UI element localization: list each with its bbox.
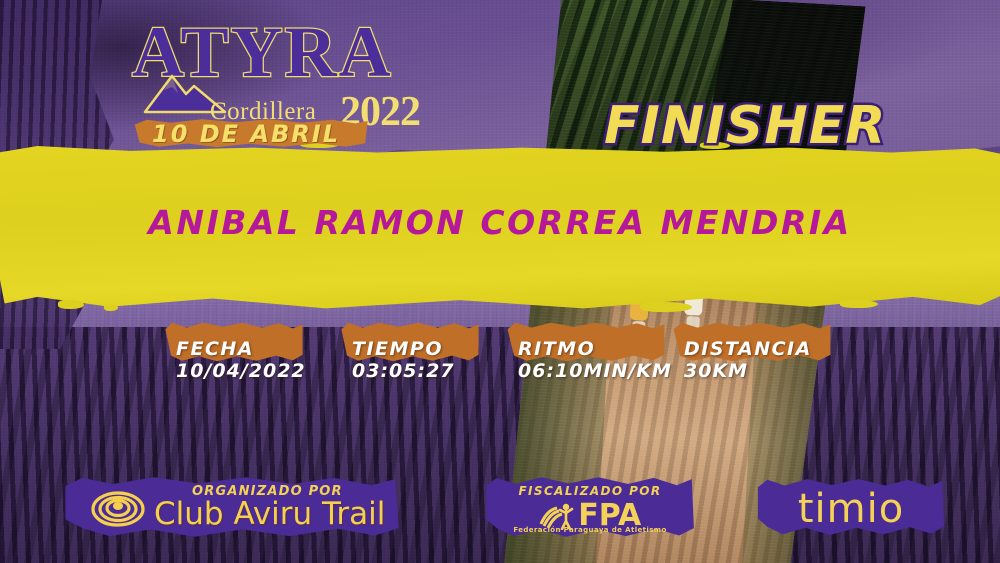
event-date-banner: 10 DE ABRIL	[126, 120, 366, 148]
brush-splatter	[840, 300, 878, 308]
finisher-certificate: ATYRA Cordillera 2022 10 DE ABRIL FINISH…	[0, 0, 1000, 563]
sponsor-timing: timio	[756, 478, 946, 536]
stat-value: 10/04/2022	[176, 360, 306, 382]
organizer-name: Club Aviru Trail	[154, 496, 385, 532]
stat-block-ritmo: RITMO 06:10MIN/KM	[506, 322, 666, 394]
sponsor-organizer: ORGANIZADO POR Club Aviru Trail	[62, 476, 402, 538]
event-logo: ATYRA Cordillera 2022 10 DE ABRIL	[126, 14, 392, 144]
stat-value: 03:05:27	[352, 360, 455, 382]
stat-value: 30KM	[684, 360, 748, 382]
sanctioner-label: FISCALIZADO POR	[484, 484, 696, 498]
brush-splatter	[104, 304, 118, 311]
stat-label: DISTANCIA	[684, 338, 812, 360]
stat-label: TIEMPO	[352, 338, 443, 360]
stat-label: RITMO	[518, 338, 595, 360]
stat-block-fecha: FECHA 10/04/2022	[164, 322, 304, 394]
brush-splatter	[640, 302, 692, 312]
fpa-subtitle: Federación Paraguaya de Atletismo	[484, 526, 696, 534]
stats-row: FECHA 10/04/2022 TIEMPO 03:05:27 RITMO 0…	[0, 322, 1000, 394]
stat-label: FECHA	[176, 338, 254, 360]
sponsor-sanctioner: FISCALIZADO POR FPA Federación Paraguaya…	[484, 476, 696, 538]
stat-block-distancia: DISTANCIA 30KM	[672, 322, 832, 394]
stat-block-tiempo: TIEMPO 03:05:27	[340, 322, 480, 394]
spiral-icon	[90, 490, 146, 528]
stat-value: 06:10MIN/KM	[518, 360, 672, 382]
timio-wordmark: timio	[756, 486, 946, 532]
brush-splatter	[58, 300, 84, 309]
athlete-name: ANIBAL RAMON CORREA MENDRIA	[0, 203, 1000, 242]
finisher-badge-label: FINISHER	[604, 96, 886, 156]
